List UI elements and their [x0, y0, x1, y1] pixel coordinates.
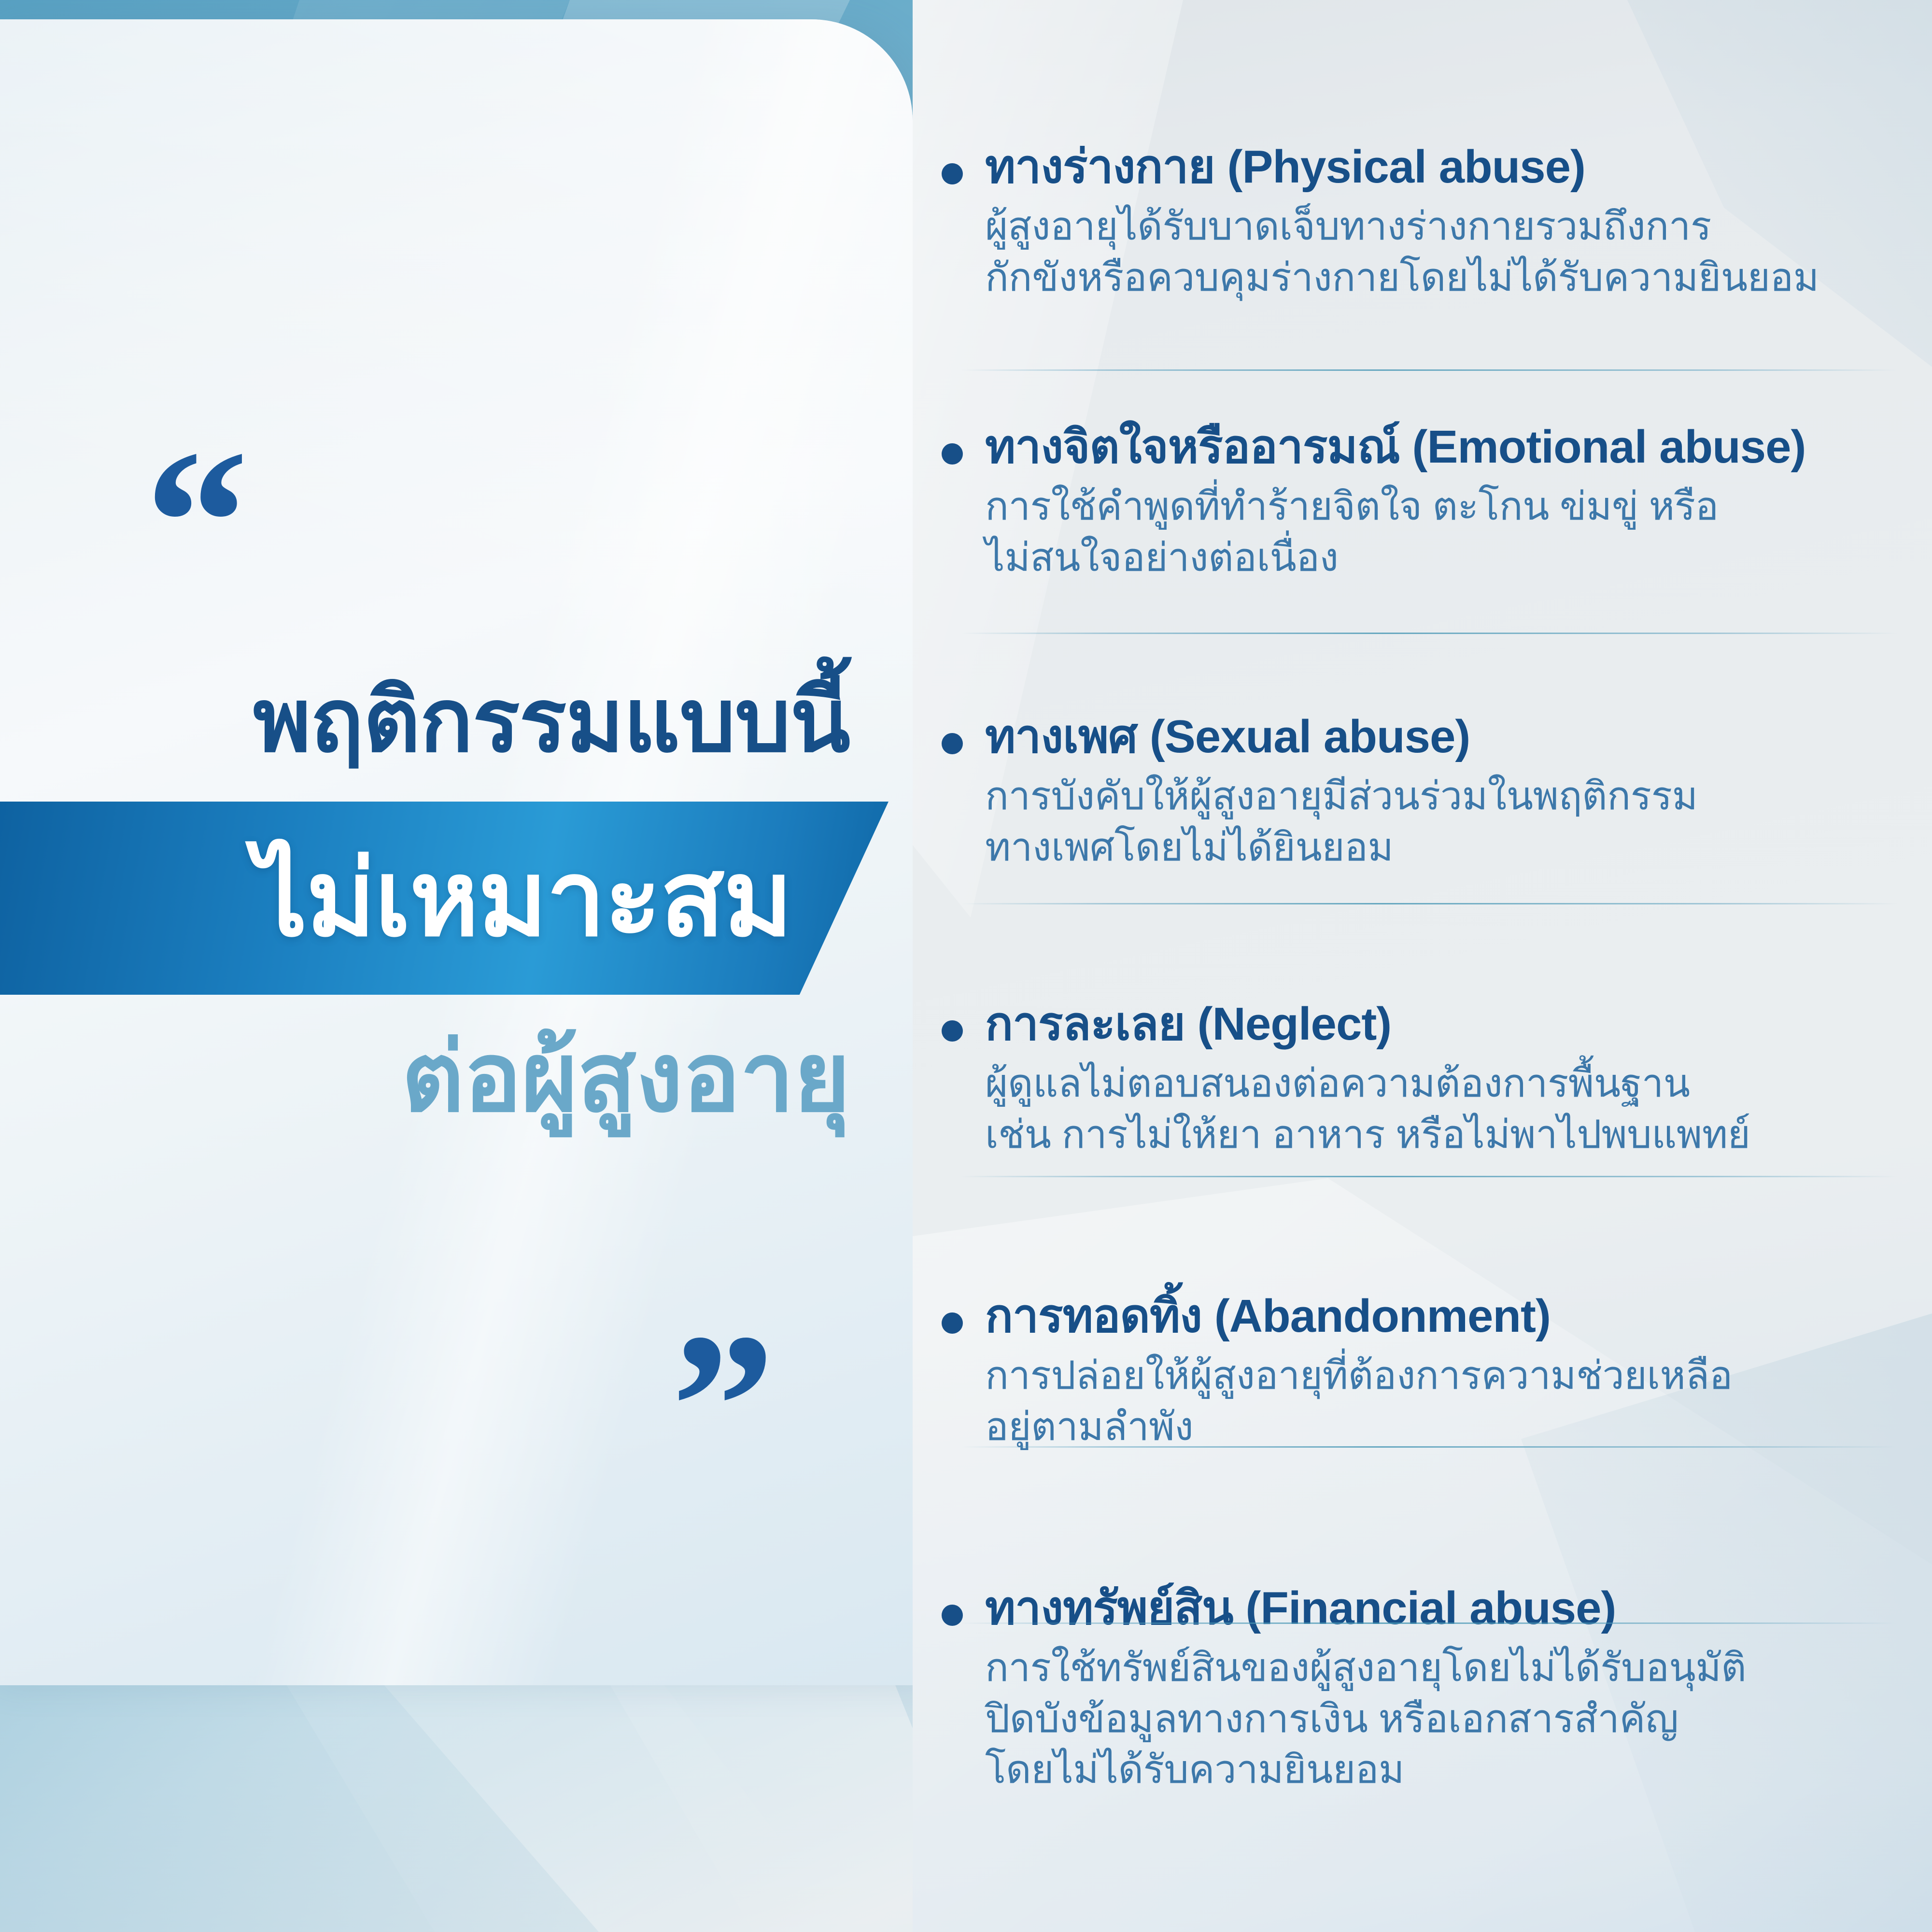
list-item-body: ทางร่างกาย (Physical abuse) ผู้สูงอายุได… [985, 140, 1912, 303]
abuse-types-panel: ทางร่างกาย (Physical abuse) ผู้สูงอายุได… [913, 0, 1932, 1932]
description-line: อยู่ตามลําพัง [985, 1402, 1912, 1453]
list-item-title: ทางจิตใจหรืออารมณ์ (Emotional abuse) [985, 420, 1912, 474]
list-divider [961, 1446, 1898, 1448]
description-line: ผู้ดูแลไม่ตอบสนองต่อความต้องการพื้นฐาน [985, 1058, 1912, 1109]
description-line: ทางเพศโดยไม่ได้ยินยอม [985, 822, 1912, 873]
abuse-types-list: ทางร่างกาย (Physical abuse) ผู้สูงอายุได… [913, 0, 1932, 1932]
list-item-body: ทางจิตใจหรืออารมณ์ (Emotional abuse) การ… [985, 420, 1912, 583]
list-item-title: ทางเพศ (Sexual abuse) [985, 710, 1912, 763]
list-item-title: การละเลย (Neglect) [985, 997, 1912, 1051]
bullet-dot-icon [942, 163, 963, 184]
infographic-poster: ทางร่างกาย (Physical abuse) ผู้สูงอายุได… [0, 0, 1932, 1932]
list-item[interactable]: ทางเพศ (Sexual abuse) การบังคับให้ผู้สูง… [942, 710, 1912, 873]
bullet-dot-icon [942, 443, 963, 465]
bullet-dot-icon [942, 1020, 963, 1042]
description-line: การปล่อยให้ผู้สูงอายุที่ต้องการความช่วยเ… [985, 1351, 1912, 1401]
description-line: กักขังหรือควบคุมร่างกายโดยไม่ได้รับความย… [985, 253, 1912, 303]
headline-line-3: ต่อผู้สูงอายุ [29, 1029, 850, 1127]
list-item-body: การละเลย (Neglect) ผู้ดูแลไม่ตอบสนองต่อค… [985, 997, 1912, 1160]
list-item[interactable]: ทางร่างกาย (Physical abuse) ผู้สูงอายุได… [942, 140, 1912, 303]
list-item-body: การทอดทิ้ง (Abandonment) การปล่อยให้ผู้ส… [985, 1289, 1912, 1453]
list-item[interactable]: การละเลย (Neglect) ผู้ดูแลไม่ตอบสนองต่อค… [942, 997, 1912, 1160]
bullet-dot-icon [942, 733, 963, 754]
list-item-body: ทางทรัพย์สิน (Financial abuse) การใช้ทรั… [985, 1581, 1912, 1795]
list-item-body: ทางเพศ (Sexual abuse) การบังคับให้ผู้สูง… [985, 710, 1912, 873]
list-item-description: การใช้ทรัพย์สินของผู้สูงอายุโดยไม่ได้รับ… [985, 1643, 1912, 1795]
description-line: การใช้คําพูดที่ทําร้ายจิตใจ ตะโกน ข่มขู่… [985, 481, 1912, 532]
list-item-description: การใช้คําพูดที่ทําร้ายจิตใจ ตะโกน ข่มขู่… [985, 481, 1912, 583]
list-item-title: การทอดทิ้ง (Abandonment) [985, 1289, 1912, 1343]
bullet-dot-icon [942, 1605, 963, 1626]
description-line: ไม่สนใจอย่างต่อเนื่อง [985, 533, 1912, 583]
list-divider [961, 369, 1898, 371]
description-line: ปิดบังข้อมูลทางการเงิน หรือเอกสารสําคัญ [985, 1694, 1912, 1745]
list-item-title: ทางทรัพย์สิน (Financial abuse) [985, 1581, 1912, 1635]
description-line: การบังคับให้ผู้สูงอายุมีส่วนร่วมในพฤติกร… [985, 771, 1912, 822]
list-item[interactable]: การทอดทิ้ง (Abandonment) การปล่อยให้ผู้ส… [942, 1289, 1912, 1453]
list-divider [961, 1176, 1898, 1177]
closing-quote-mark: ” [671, 1323, 769, 1489]
description-line: โดยไม่ได้รับความยินยอม [985, 1745, 1912, 1795]
description-line: ผู้สูงอายุได้รับบาดเจ็บทางร่างกายรวมถึงก… [985, 201, 1912, 252]
description-line: การใช้ทรัพย์สินของผู้สูงอายุโดยไม่ได้รับ… [985, 1643, 1912, 1693]
list-item-description: ผู้สูงอายุได้รับบาดเจ็บทางร่างกายรวมถึงก… [985, 201, 1912, 303]
list-item-description: ผู้ดูแลไม่ตอบสนองต่อความต้องการพื้นฐาน เ… [985, 1058, 1912, 1160]
headline-line-1: พฤติกรรมแบบนี้ [29, 676, 850, 766]
opening-quote-mark: “ [145, 439, 243, 606]
list-item[interactable]: ทางจิตใจหรืออารมณ์ (Emotional abuse) การ… [942, 420, 1912, 583]
headline-banner-text: ไม่เหมาะสม [0, 802, 821, 995]
list-item-description: การปล่อยให้ผู้สูงอายุที่ต้องการความช่วยเ… [985, 1351, 1912, 1453]
description-line: เช่น การไม่ให้ยา อาหาร หรือไม่พาไปพบแพทย… [985, 1110, 1912, 1160]
list-item[interactable]: ทางทรัพย์สิน (Financial abuse) การใช้ทรั… [942, 1581, 1912, 1795]
headline-content: “ พฤติกรรมแบบนี้ ไม่เหมาะสม ต่อผู้สูงอาย… [0, 19, 913, 1685]
list-item-description: การบังคับให้ผู้สูงอายุมีส่วนร่วมในพฤติกร… [985, 771, 1912, 873]
list-divider [961, 1622, 1898, 1624]
bullet-dot-icon [942, 1312, 963, 1334]
list-divider [961, 903, 1898, 904]
list-divider [961, 633, 1898, 634]
list-item-title: ทางร่างกาย (Physical abuse) [985, 140, 1912, 194]
